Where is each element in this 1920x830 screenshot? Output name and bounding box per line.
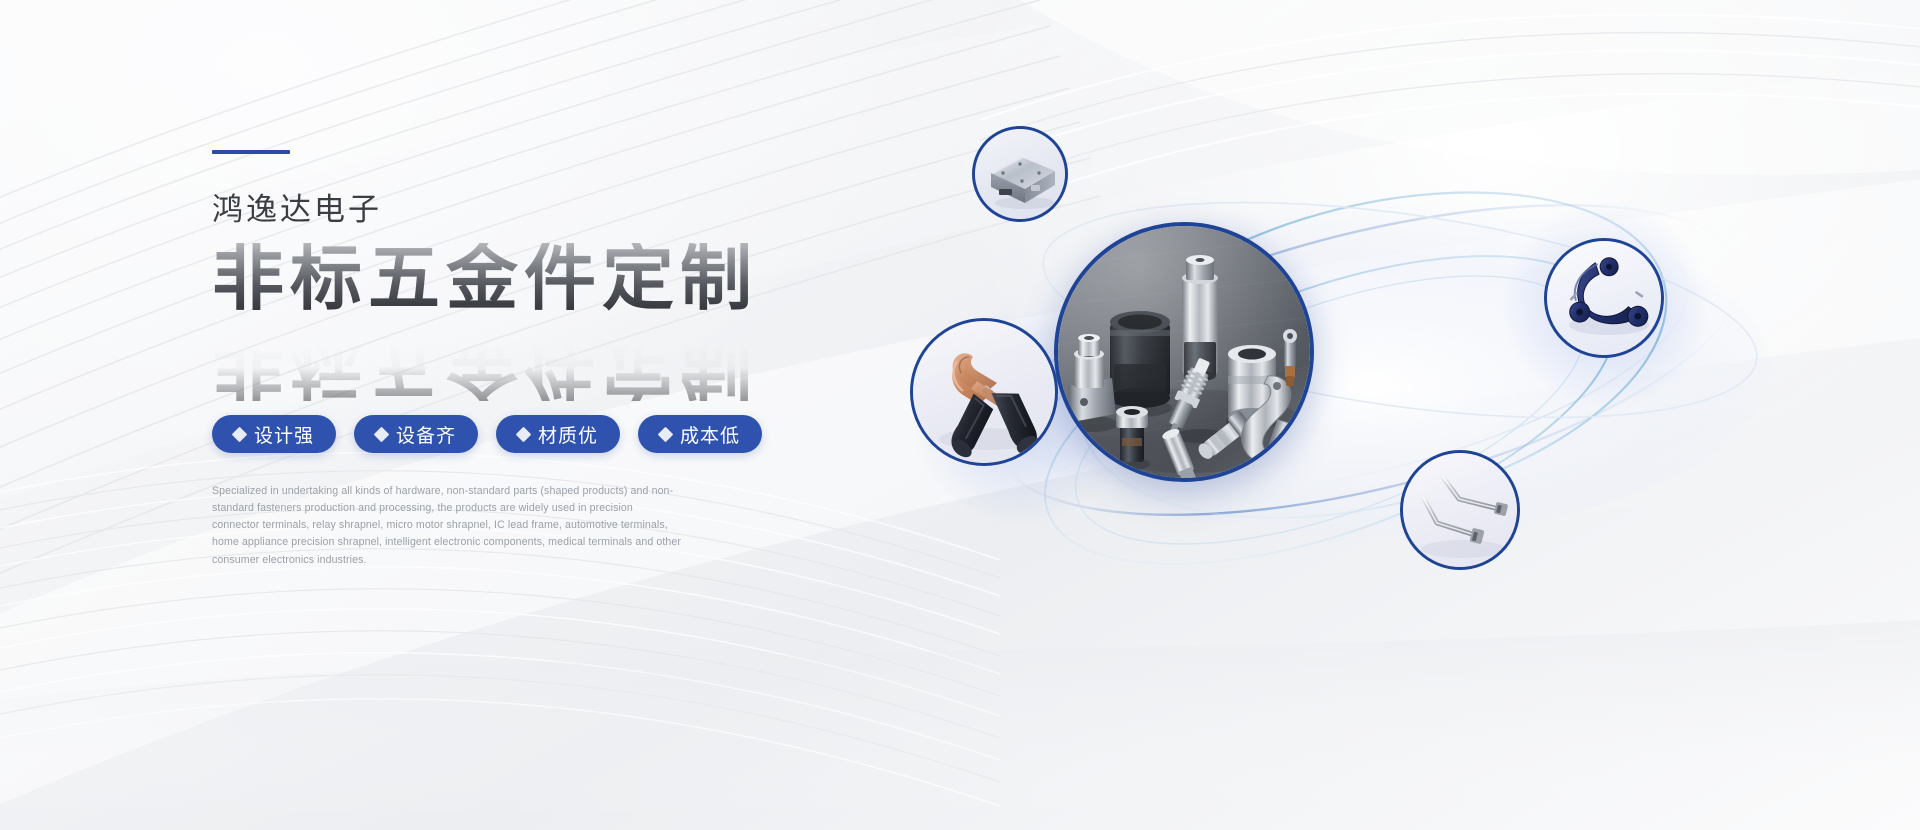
company-description: Specialized in undertaking all kinds of … [212,483,682,569]
feature-tag-equipment[interactable]: 设备齐 [354,415,478,453]
headline-wrapper: 非标五金件定制 非标五金件定制 [212,243,852,393]
feature-tag-material[interactable]: 材质优 [496,415,620,453]
product-node-copper-alligator-clamp[interactable] [910,318,1058,466]
product-image-bent-terminal-pins [1403,453,1517,567]
feature-tag-label: 设备齐 [396,421,456,448]
product-node-bent-terminal-pins[interactable] [1400,450,1520,570]
product-showcase [930,110,1810,580]
hero-banner: 鸿逸达电子 非标五金件定制 非标五金件定制 设计强 设备齐 材质优 成本低 [0,0,1920,830]
retaining-ring-illustration [1547,241,1661,355]
feature-tag-label: 材质优 [538,421,598,448]
page-title-reflection: 非标五金件定制 [212,329,758,401]
product-node-metal-enclosure-box[interactable] [972,126,1068,222]
diamond-icon [374,426,390,442]
metal-box-illustration [975,129,1065,219]
feature-tag-label: 成本低 [680,421,740,448]
diamond-icon [232,426,248,442]
brand-name: 鸿逸达电子 [212,184,852,229]
connector-parts-illustration [1058,226,1310,478]
feature-tag-cost[interactable]: 成本低 [638,415,762,453]
terminal-pins-illustration [1403,453,1517,567]
page-title: 非标五金件定制 [212,243,852,315]
hero-copy: 鸿逸达电子 非标五金件定制 非标五金件定制 设计强 设备齐 材质优 成本低 [212,150,852,569]
product-image-copper-alligator-clamp [913,321,1055,463]
product-node-precision-connector-parts[interactable] [1054,222,1314,482]
diamond-icon [658,426,674,442]
product-node-snap-retaining-ring[interactable] [1544,238,1664,358]
feature-tag-label: 设计强 [254,421,314,448]
product-image-metal-enclosure-box [975,129,1065,219]
diamond-icon [516,426,532,442]
feature-tag-design[interactable]: 设计强 [212,415,336,453]
alligator-clamp-illustration [913,321,1055,463]
product-image-snap-retaining-ring [1547,241,1661,355]
product-image-precision-connector-parts [1058,226,1310,478]
accent-bar [212,150,290,154]
feature-tag-list: 设计强 设备齐 材质优 成本低 [212,415,852,453]
